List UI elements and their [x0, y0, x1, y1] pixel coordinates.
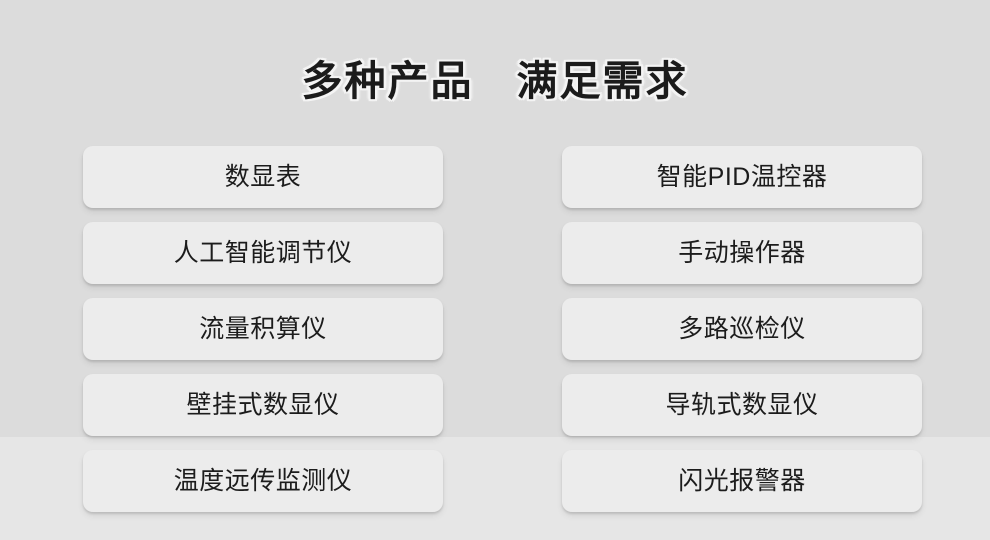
product-card-grid: 数显表 人工智能调节仪 流量积算仪 壁挂式数显仪 温度远传监测仪 智能PID温控…: [83, 146, 921, 512]
product-card[interactable]: 人工智能调节仪: [83, 222, 443, 284]
product-card-label: 壁挂式数显仪: [186, 390, 339, 420]
product-card[interactable]: 数显表: [83, 146, 443, 208]
product-card[interactable]: 闪光报警器: [562, 450, 922, 512]
product-card-label: 人工智能调节仪: [174, 238, 353, 268]
product-card-label: 数显表: [225, 162, 302, 192]
product-card-label: 闪光报警器: [678, 466, 806, 496]
product-card[interactable]: 多路巡检仪: [562, 298, 922, 360]
product-column-right: 智能PID温控器 手动操作器 多路巡检仪 导轨式数显仪 闪光报警器: [562, 146, 922, 512]
product-card[interactable]: 手动操作器: [562, 222, 922, 284]
product-card[interactable]: 智能PID温控器: [562, 146, 922, 208]
product-card[interactable]: 流量积算仪: [83, 298, 443, 360]
product-card-label: 多路巡检仪: [678, 314, 806, 344]
product-card-label: 手动操作器: [678, 238, 806, 268]
product-card-label: 导轨式数显仪: [665, 390, 818, 420]
product-card[interactable]: 导轨式数显仪: [562, 374, 922, 436]
product-column-left: 数显表 人工智能调节仪 流量积算仪 壁挂式数显仪 温度远传监测仪: [83, 146, 443, 512]
product-card-label: 温度远传监测仪: [174, 466, 353, 496]
product-card[interactable]: 壁挂式数显仪: [83, 374, 443, 436]
product-showcase-slide: 多种产品 满足需求 数显表 人工智能调节仪 流量积算仪 壁挂式数显仪 温度远传监…: [0, 0, 990, 540]
product-card-label: 智能PID温控器: [657, 162, 828, 192]
page-title: 多种产品 满足需求: [0, 55, 990, 107]
product-card-label: 流量积算仪: [199, 314, 327, 344]
product-card[interactable]: 温度远传监测仪: [83, 450, 443, 512]
